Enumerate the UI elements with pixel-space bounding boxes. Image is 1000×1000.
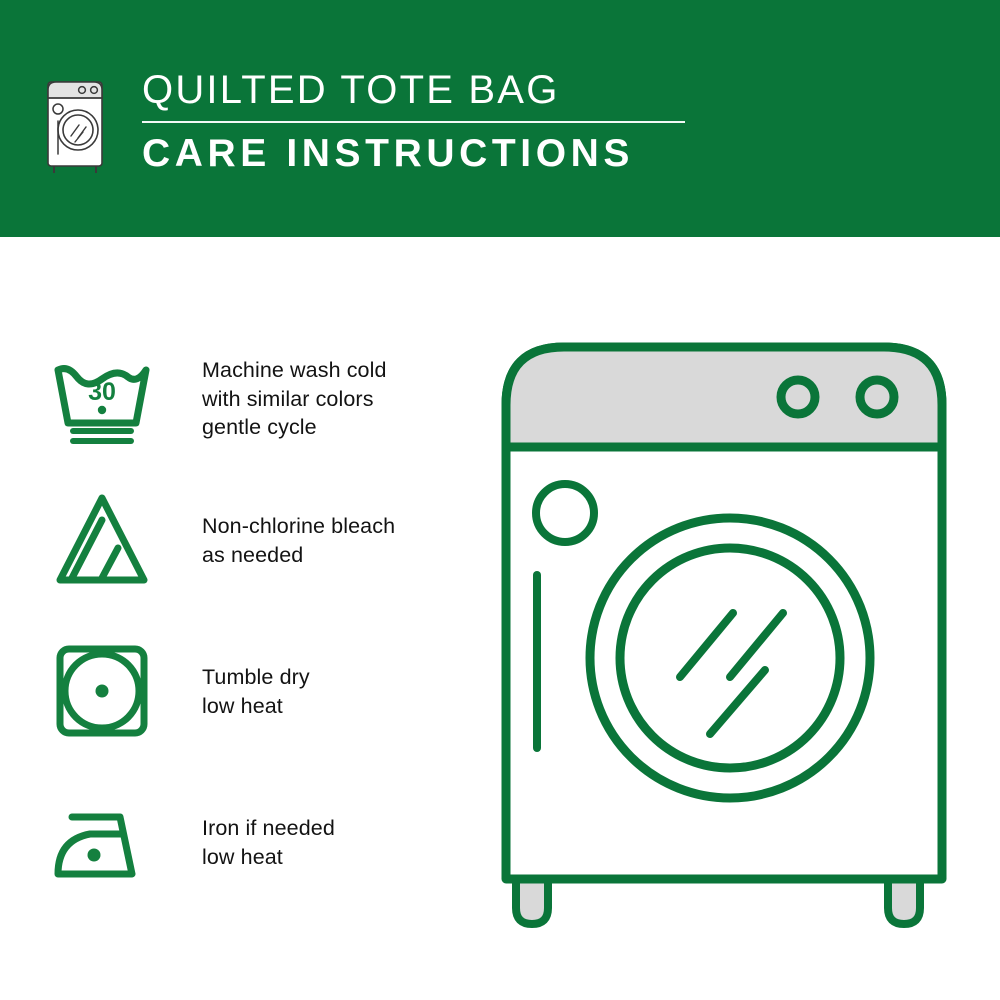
front-load-washing-machine-illustration <box>490 330 970 940</box>
care-item-tumble-dry: Tumble dry low heat <box>52 641 310 741</box>
care-instruction-list: 30 Machine wash cold with similar colors… <box>0 237 470 1000</box>
header-banner: QUILTED TOTE BAG CARE INSTRUCTIONS <box>0 0 1000 237</box>
page-subtitle: CARE INSTRUCTIONS <box>142 129 742 179</box>
iron-low-heat-icon <box>52 792 152 892</box>
title-divider <box>142 121 685 123</box>
care-item-label: Non-chlorine bleach as needed <box>202 490 395 569</box>
care-item-label: Iron if needed low heat <box>202 792 335 871</box>
non-chlorine-bleach-triangle-icon <box>52 490 152 590</box>
wash-temperature-value: 30 <box>88 378 116 406</box>
care-item-label: Machine wash cold with similar colors ge… <box>202 347 387 442</box>
care-instructions-infographic: QUILTED TOTE BAG CARE INSTRUCTIONS 30 Ma… <box>0 0 1000 1000</box>
care-item-iron: Iron if needed low heat <box>52 792 335 892</box>
page-title: QUILTED TOTE BAG <box>142 64 742 116</box>
care-item-machine-wash: 30 Machine wash cold with similar colors… <box>52 347 387 447</box>
care-item-bleach: Non-chlorine bleach as needed <box>52 490 395 590</box>
header-title-group: QUILTED TOTE BAG CARE INSTRUCTIONS <box>142 64 742 179</box>
care-item-label: Tumble dry low heat <box>202 641 310 720</box>
washing-machine-icon <box>44 68 106 176</box>
machine-wash-tub-icon: 30 <box>52 347 152 447</box>
tumble-dry-low-icon <box>52 641 152 741</box>
